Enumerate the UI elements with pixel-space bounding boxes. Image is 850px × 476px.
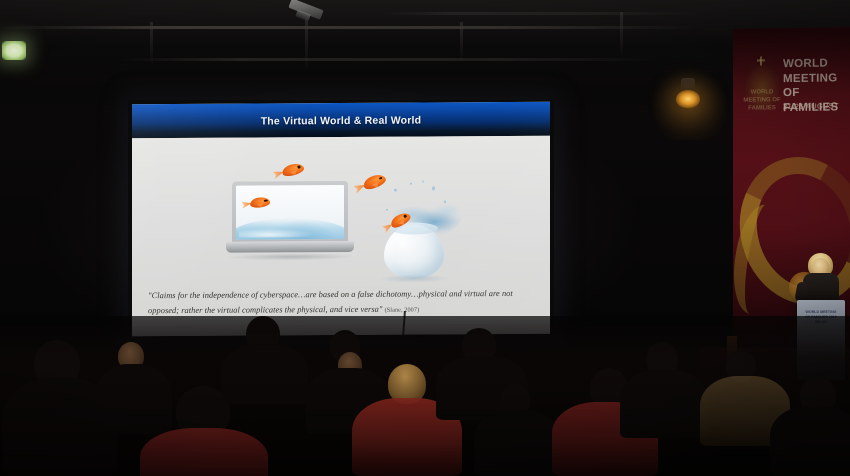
audience-shoulders xyxy=(96,364,172,434)
slide-quote: "Claims for the independence of cyberspa… xyxy=(148,286,536,319)
water-droplet xyxy=(386,209,388,211)
audience-shoulders xyxy=(770,406,850,476)
audience-shoulders xyxy=(140,428,268,476)
banner-line-2: MEETING xyxy=(783,71,850,86)
exit-light-icon xyxy=(2,41,26,60)
slide-title: The Virtual World & Real World xyxy=(132,114,550,129)
spotlight-icon xyxy=(676,90,700,108)
fishbowl-shadow xyxy=(378,274,450,282)
cross-icon xyxy=(760,56,762,65)
truss-post xyxy=(460,22,463,62)
water-droplet xyxy=(432,186,435,190)
presentation-slide: The Virtual World & Real World xyxy=(132,102,550,337)
goldfish-eye xyxy=(378,176,382,180)
truss-beam xyxy=(380,12,700,15)
audience-shoulders xyxy=(222,344,308,404)
goldfish-eye xyxy=(264,199,267,202)
goldfish-eye xyxy=(403,214,407,218)
banner-line-1: WORLD xyxy=(783,56,850,71)
water-in-screen xyxy=(236,218,344,240)
banner-dates: 21-26 AUGUST xyxy=(783,101,850,111)
truss-post xyxy=(150,22,153,66)
laptop-trackpad xyxy=(273,244,303,248)
truss-beam xyxy=(120,58,660,61)
water-droplet xyxy=(410,183,412,185)
conference-hall-photo: The Virtual World & Real World xyxy=(0,0,850,476)
goldfish-tail xyxy=(353,182,366,194)
truss-beam xyxy=(0,26,700,29)
water-droplet xyxy=(444,200,446,203)
banner-crest-caption: WORLD MEETING OF FAMILIES xyxy=(741,88,783,113)
laptop-icon xyxy=(226,181,354,266)
quote-citation: (Slane, 2007) xyxy=(385,307,420,314)
slide-body: "Claims for the independence of cyberspa… xyxy=(132,136,550,337)
quote-text: "Claims for the independence of cyberspa… xyxy=(148,289,513,315)
water-droplet xyxy=(394,189,397,192)
audience-shoulders xyxy=(474,410,560,476)
slide-header-band: The Virtual World & Real World xyxy=(132,102,550,139)
goldfish-eye xyxy=(297,165,301,168)
laptop-fishbowl-illustration xyxy=(220,162,470,280)
goldfish-fin xyxy=(290,170,298,176)
laptop-screen xyxy=(236,185,344,240)
laptop-lid xyxy=(232,181,348,244)
goldfish-body xyxy=(281,161,305,178)
laptop-shadow xyxy=(228,253,354,261)
audience xyxy=(0,316,850,476)
ceiling-truss xyxy=(0,0,850,96)
audience-shoulders xyxy=(620,370,708,438)
goldfish-icon xyxy=(281,161,305,178)
truss-post xyxy=(620,12,623,58)
water-droplet xyxy=(422,180,424,182)
goldfish-tail xyxy=(272,169,284,180)
truss-post xyxy=(305,18,308,72)
